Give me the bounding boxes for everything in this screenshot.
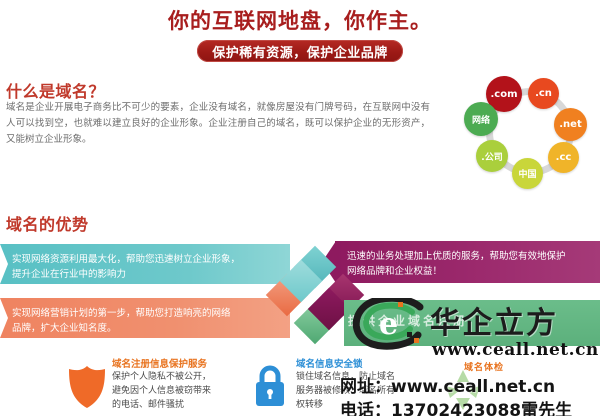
watermark-phone-line: 电话：13702423088雷先生 xyxy=(340,396,572,416)
ceall-e-logo-icon: e xyxy=(352,298,428,350)
section-what-body: 域名是企业开展电子商务比不可少的要素，企业没有域名，就像房屋没有门牌号码，在互联… xyxy=(6,100,430,148)
watermark-site-line: 网址：www.ceall.net.cn xyxy=(340,372,555,397)
page-title: 你的互联网地盘，你作主。 xyxy=(0,8,600,34)
bubble-zhongguo: 中国 xyxy=(512,158,543,189)
svg-text:e: e xyxy=(379,307,398,342)
feature-privacy-body: 保护个人隐私不被公开， 避免因个人信息被窃带来 的电话、邮件骚扰 xyxy=(112,370,252,412)
bubble-net: .net xyxy=(554,108,587,141)
watermark-brand: 华企立方 xyxy=(430,298,558,342)
feature-privacy-heading: 域名注册信息保护服务 xyxy=(112,356,207,370)
banner-teal: 实现网络资源利用最大化，帮助您迅速树立企业形象， 提升企业在行业中的影响力 xyxy=(0,244,290,284)
section-advantage-heading: 域名的优势 xyxy=(6,211,89,235)
watermark-url: www.ceall.net.cn xyxy=(432,340,599,360)
bubble-cn: .cn xyxy=(528,78,559,109)
banner-purple: 迅速的业务处理加上优质的服务，帮助您有效地保护 网络品牌和企业权益！ xyxy=(335,241,600,283)
watermark-phone-value: 13702423088 xyxy=(391,401,521,416)
watermark-site-label: 网址： xyxy=(340,377,391,397)
watermark-site-value: www.ceall.net.cn xyxy=(391,377,555,397)
bubble-cc: .cc xyxy=(548,142,579,173)
bubble-wangluo: 网络 xyxy=(464,102,498,136)
lock-icon xyxy=(252,362,288,408)
hero-badge: 保护稀有资源，保护企业品牌 xyxy=(197,40,403,62)
banner-salmon: 实现网络营销计划的第一步，帮助您打造响亮的网络 品牌，扩大企业知名度。 xyxy=(0,298,290,338)
watermark-contact-person: 雷先生 xyxy=(521,401,572,416)
watermark-phone-label: 电话： xyxy=(340,401,391,416)
bubble-gongsi: .公司 xyxy=(476,140,508,172)
domain-extension-diagram: .com .cn .net .cc 中国 .公司 网络 xyxy=(462,76,598,196)
section-what-heading: 什么是域名？ xyxy=(6,78,105,102)
poster-canvas: 你的互联网地盘，你作主。 保护稀有资源，保护企业品牌 什么是域名？ 域名是企业开… xyxy=(0,0,600,416)
shield-icon xyxy=(66,365,108,409)
watermark-overlay: 提供企业域名注册 e 华企立方 www.ceall.net.cn 域名体检 网址… xyxy=(344,296,600,416)
